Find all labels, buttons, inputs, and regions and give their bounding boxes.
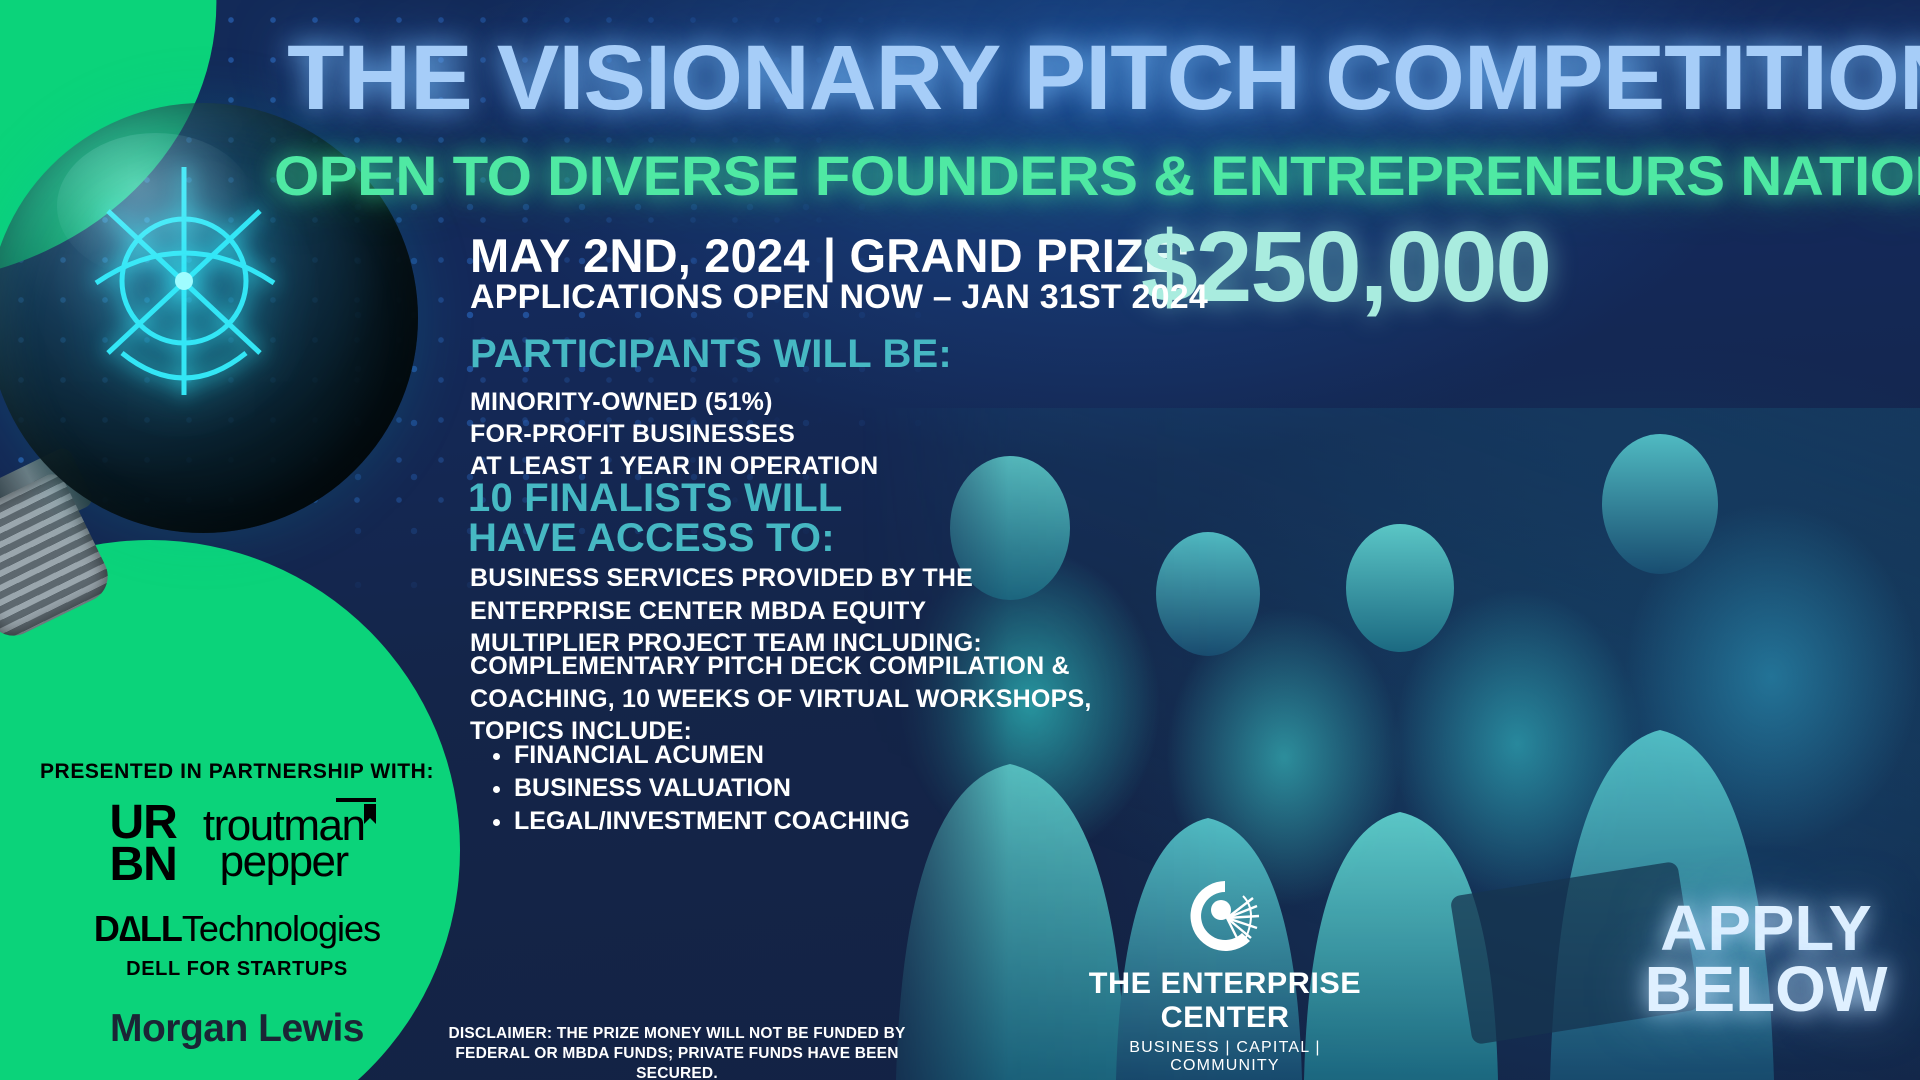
troutman-line2: pepper (203, 842, 365, 882)
workshop-topics-list: FINANCIAL ACUMEN BUSINESS VALUATION LEGA… (486, 739, 910, 838)
page-title: THE VISIONARY PITCH COMPETITION (287, 34, 1603, 122)
urbn-line2: BN (110, 844, 177, 886)
requirement-item: FOR-PROFIT BUSINESSES (470, 418, 878, 450)
sponsors-block: PRESENTED IN PARTNERSHIP WITH: UR BN tro… (22, 760, 452, 1051)
sponsors-heading: PRESENTED IN PARTNERSHIP WITH: (22, 760, 452, 784)
troutman-pepper-logo: troutman pepper (203, 806, 365, 883)
disclaimer-text: DISCLAIMER: THE PRIZE MONEY WILL NOT BE … (432, 1024, 922, 1080)
apply-line1: APPLY (1644, 898, 1889, 959)
participant-requirements: MINORITY-OWNED (51%) FOR-PROFIT BUSINESS… (470, 386, 878, 482)
list-item: BUSINESS VALUATION (514, 772, 910, 805)
finalists-services-paragraph: BUSINESS SERVICES PROVIDED BY THE ENTERP… (470, 562, 1070, 660)
troutman-mark-icon (334, 792, 378, 826)
enterprise-center-logo: THE ENTERPRISE CENTER BUSINESS | CAPITAL… (1080, 878, 1370, 1075)
enterprise-center-name: THE ENTERPRISE CENTER (1077, 967, 1373, 1035)
requirement-item: MINORITY-OWNED (51%) (470, 386, 878, 418)
finalists-heading-line2: HAVE ACCESS TO: (468, 518, 843, 558)
dell-technologies-word: Technologies (182, 908, 380, 949)
list-item: LEGAL/INVESTMENT COACHING (514, 805, 910, 838)
list-item: FINANCIAL ACUMEN (514, 739, 910, 772)
dell-wordmark: D∆LL (94, 908, 182, 949)
apply-below-callout: APPLY BELOW (1644, 898, 1889, 1020)
dell-technologies-logo: D∆LLTechnologies (22, 908, 452, 950)
date-and-prize-label: MAY 2ND, 2024 | GRAND PRIZE: (470, 228, 1191, 283)
sponsor-logo-row: UR BN troutman pepper (22, 802, 452, 886)
enterprise-center-tagline: BUSINESS | CAPITAL | COMMUNITY (1080, 1039, 1370, 1075)
participants-heading: PARTICIPANTS WILL BE: (470, 332, 952, 377)
finalists-workshops-paragraph: COMPLEMENTARY PITCH DECK COMPILATION & C… (470, 650, 1110, 748)
page-subtitle: OPEN TO DIVERSE FOUNDERS & ENTREPRENEURS… (274, 148, 1626, 204)
dell-for-startups-label: DELL FOR STARTUPS (22, 958, 452, 981)
enterprise-center-mark-icon (1187, 878, 1263, 954)
finalists-heading-line1: 10 FINALISTS WILL (468, 478, 843, 518)
morgan-lewis-logo: Morgan Lewis (22, 1007, 452, 1051)
urbn-logo: UR BN (110, 802, 177, 886)
finalists-heading: 10 FINALISTS WILL HAVE ACCESS TO: (468, 478, 843, 558)
apply-line2: BELOW (1644, 959, 1889, 1020)
applications-window: APPLICATIONS OPEN NOW – JAN 31ST 2024 (470, 278, 1208, 317)
poster-canvas: THE VISIONARY PITCH COMPETITION OPEN TO … (0, 0, 1920, 1080)
